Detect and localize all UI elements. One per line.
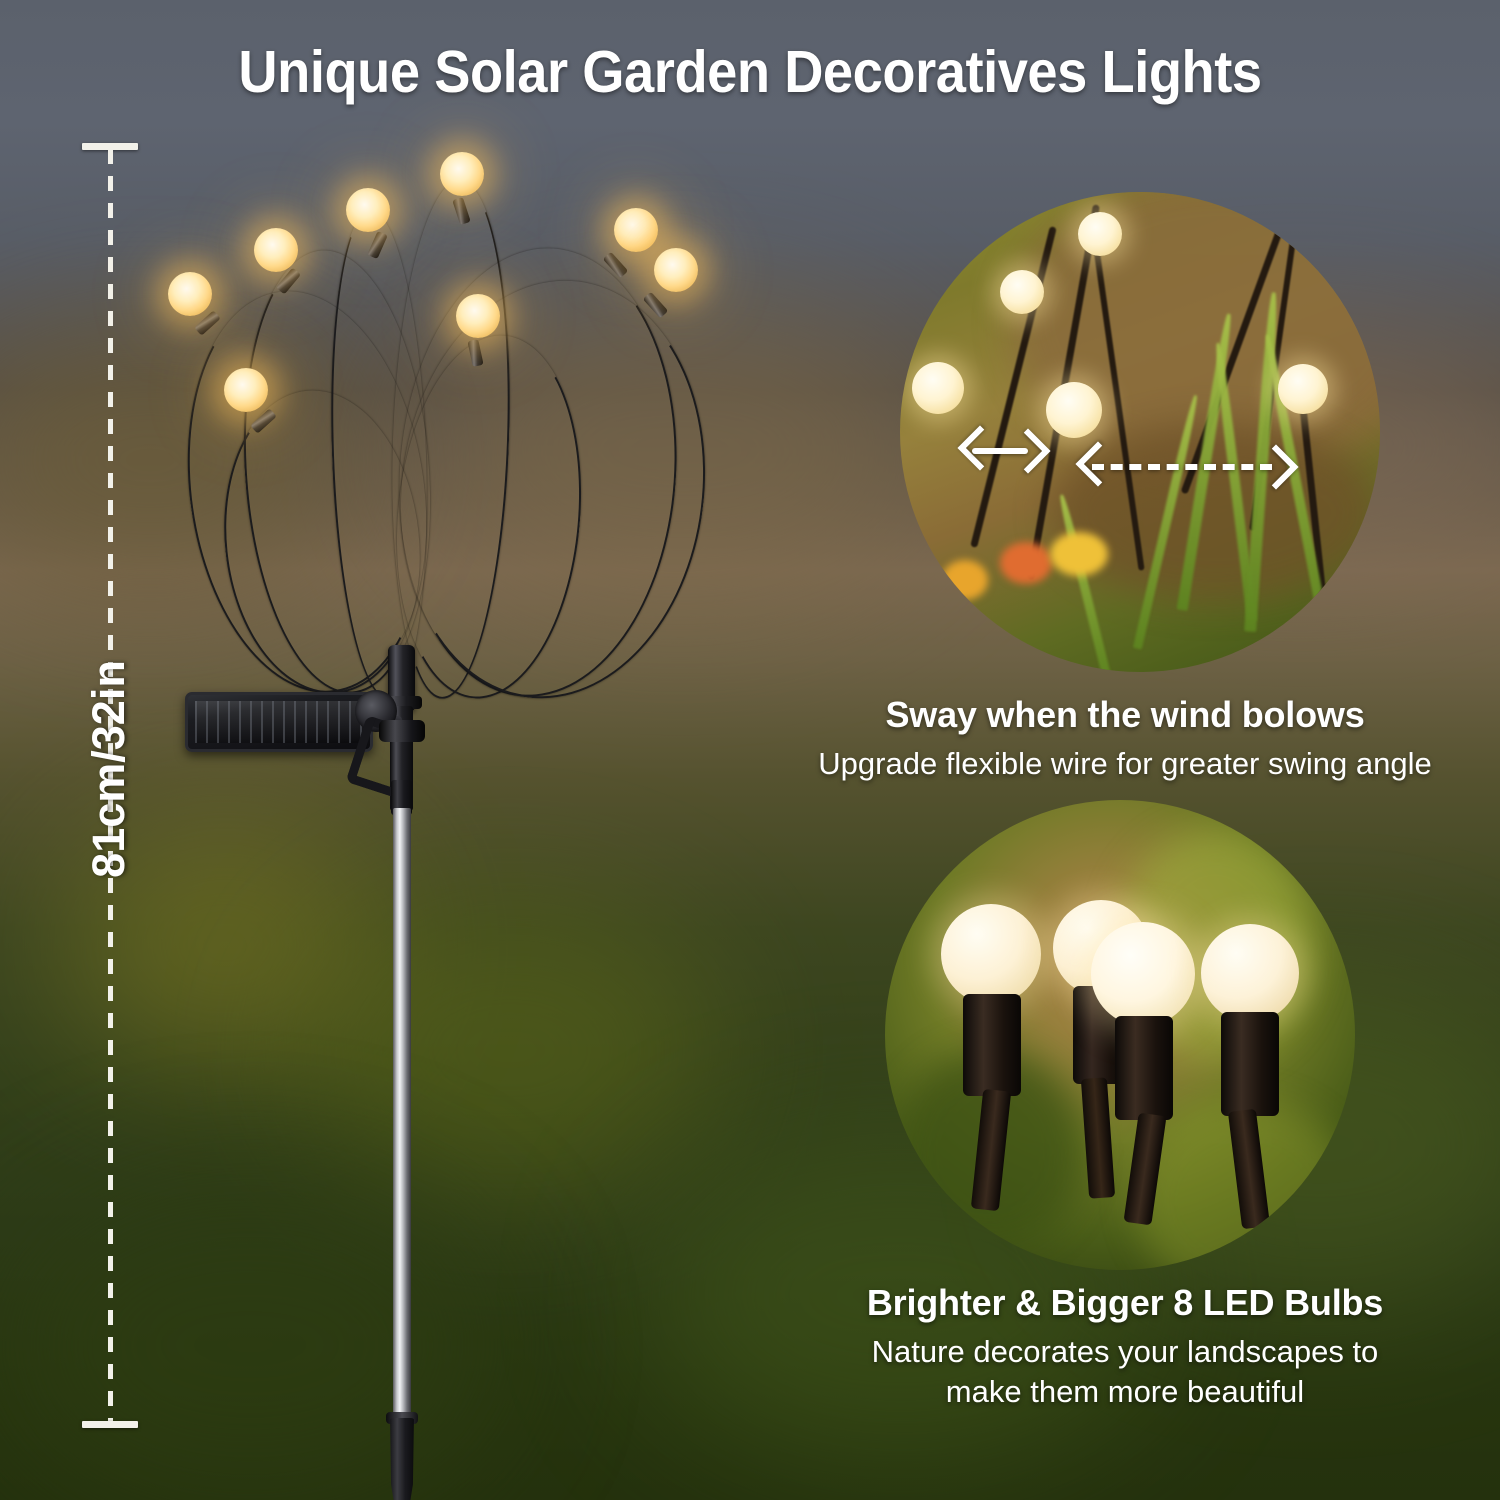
flower xyxy=(1050,532,1108,576)
garden-lights-swaying-photo xyxy=(900,192,1380,672)
led-bulb xyxy=(614,208,658,252)
stainless-steel-pole xyxy=(393,808,411,1428)
bulb-socket xyxy=(1115,1016,1173,1120)
led-bulb xyxy=(654,248,698,292)
led-bulb xyxy=(224,368,268,412)
glowing-led-bulb xyxy=(1000,270,1044,314)
led-bulb xyxy=(254,228,298,272)
photo-scene xyxy=(885,800,1355,1270)
solar-firefly-garden-light xyxy=(150,140,670,1440)
bulb-assembly xyxy=(1201,924,1299,1022)
ground-stake-spike xyxy=(389,1418,415,1500)
flower xyxy=(1000,542,1052,584)
bulb-socket xyxy=(1221,1012,1279,1116)
ruler-bottom-cap xyxy=(82,1421,138,1428)
photo-scene xyxy=(900,192,1380,672)
feature-caption-sway: Sway when the wind bolows Upgrade flexib… xyxy=(760,694,1490,784)
feature-heading: Brighter & Bigger 8 LED Bulbs xyxy=(760,1282,1490,1324)
led-bulbs-closeup-photo xyxy=(885,800,1355,1270)
led-bulb-globe xyxy=(1201,924,1299,1022)
led-bulb xyxy=(346,188,390,232)
glowing-led-bulb xyxy=(1078,212,1122,256)
height-measurement-ruler: 81cm/32in xyxy=(82,143,138,1428)
led-bulb xyxy=(440,152,484,196)
swing-arrow-right-head xyxy=(1005,428,1050,473)
bulb-assembly xyxy=(1091,922,1195,1026)
pole-clamp xyxy=(379,720,425,742)
glowing-led-bulb xyxy=(1278,364,1328,414)
led-bulb xyxy=(456,294,500,338)
flower xyxy=(942,560,988,600)
feature-heading: Sway when the wind bolows xyxy=(760,694,1490,736)
glowing-led-bulb xyxy=(912,362,964,414)
led-bulb-globe xyxy=(941,904,1041,1004)
feature-subtext: Nature decorates your landscapes to make… xyxy=(760,1332,1490,1411)
glowing-led-bulb xyxy=(1046,382,1102,438)
bulb-socket xyxy=(963,994,1021,1096)
feature-caption-bulbs: Brighter & Bigger 8 LED Bulbs Nature dec… xyxy=(760,1282,1490,1411)
led-bulb xyxy=(168,272,212,316)
solar-panel xyxy=(185,692,373,752)
led-bulb-globe xyxy=(1091,922,1195,1026)
feature-subtext: Upgrade flexible wire for greater swing … xyxy=(760,744,1490,784)
swing-arrow-dashed-line xyxy=(1092,464,1272,470)
bulb-wire xyxy=(1081,1077,1115,1199)
product-infographic: Unique Solar Garden Decoratives Lights 8… xyxy=(0,0,1500,1500)
dimension-label: 81cm/32in xyxy=(83,579,135,959)
bulb-assembly xyxy=(941,904,1041,1004)
page-title: Unique Solar Garden Decoratives Lights xyxy=(60,38,1440,106)
